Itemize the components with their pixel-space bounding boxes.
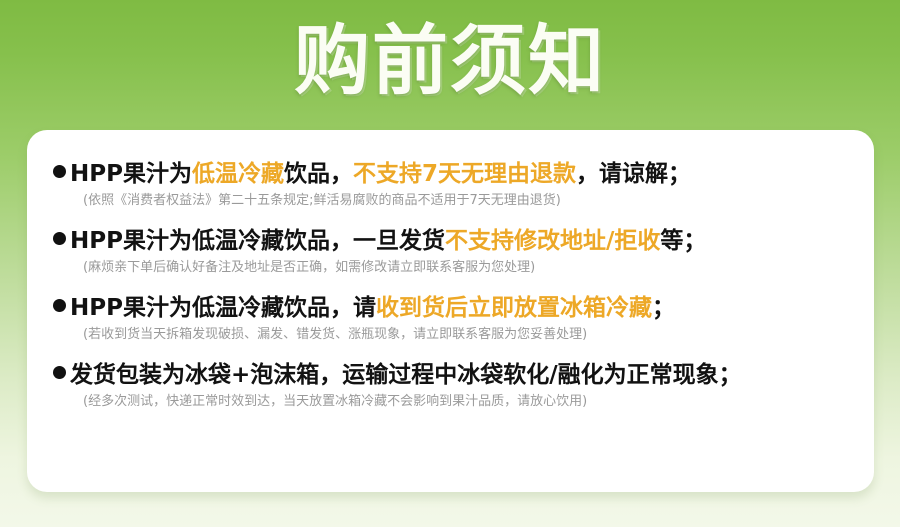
notice-main-text: HPP果汁为低温冷藏饮品，不支持7天无理由退款，请谅解； xyxy=(70,158,691,190)
notice-plain-text: HPP果汁为 xyxy=(70,161,192,187)
page-title-container: 购前须知 xyxy=(0,18,900,104)
notice-item: HPP果汁为低温冷藏饮品，不支持7天无理由退款，请谅解；(依照《消费者权益法》第… xyxy=(53,158,848,212)
notice-main-line: HPP果汁为低温冷藏饮品，不支持7天无理由退款，请谅解； xyxy=(53,158,848,190)
notice-main-line: HPP果汁为低温冷藏饮品，请收到货后立即放置冰箱冷藏； xyxy=(53,292,848,324)
bullet-dot-icon xyxy=(53,299,66,312)
bullet-dot-icon xyxy=(53,165,66,178)
purchase-notice-page: 购前须知 HPP果汁为低温冷藏饮品，不支持7天无理由退款，请谅解；(依照《消费者… xyxy=(0,0,900,527)
notice-sub-note: (依照《消费者权益法》第二十五条规定;鲜活易腐败的商品不适用于7天无理由退货) xyxy=(53,190,848,212)
notice-sub-note: (麻烦亲下单后确认好备注及地址是否正确，如需修改请立即联系客服为您处理) xyxy=(53,257,848,279)
notice-main-text: HPP果汁为低温冷藏饮品，一旦发货不支持修改地址/拒收等； xyxy=(70,225,706,257)
notice-sub-note: (若收到货当天拆箱发现破损、漏发、错发货、涨瓶现象，请立即联系客服为您妥善处理) xyxy=(53,324,848,346)
notice-item: HPP果汁为低温冷藏饮品，请收到货后立即放置冰箱冷藏；(若收到货当天拆箱发现破损… xyxy=(53,292,848,346)
notice-main-line: HPP果汁为低温冷藏饮品，一旦发货不支持修改地址/拒收等； xyxy=(53,225,848,257)
bullet-dot-icon xyxy=(53,366,66,379)
notice-highlight-text: 收到货后立即放置冰箱冷藏 xyxy=(376,295,652,321)
notice-highlight-text: 不支持7天无理由退款 xyxy=(353,161,576,187)
notice-item: HPP果汁为低温冷藏饮品，一旦发货不支持修改地址/拒收等；(麻烦亲下单后确认好备… xyxy=(53,225,848,279)
notice-item: 发货包装为冰袋+泡沫箱，运输过程中冰袋软化/融化为正常现象；(经多次测试，快递正… xyxy=(53,359,848,413)
notice-plain-text: 饮品， xyxy=(284,161,353,187)
notice-card: HPP果汁为低温冷藏饮品，不支持7天无理由退款，请谅解；(依照《消费者权益法》第… xyxy=(27,130,874,492)
notice-sub-note: (经多次测试，快递正常时效到达，当天放置冰箱冷藏不会影响到果汁品质，请放心饮用) xyxy=(53,391,848,413)
bullet-dot-icon xyxy=(53,232,66,245)
notice-plain-text: 发货包装为冰袋+泡沫箱，运输过程中冰袋软化/融化为正常现象； xyxy=(70,362,742,388)
page-title: 购前须知 xyxy=(294,18,606,104)
notice-highlight-text: 低温冷藏 xyxy=(192,161,284,187)
notice-plain-text: ； xyxy=(652,295,675,321)
notice-plain-text: 等； xyxy=(660,228,706,254)
notice-main-text: HPP果汁为低温冷藏饮品，请收到货后立即放置冰箱冷藏； xyxy=(70,292,675,324)
notice-highlight-text: 不支持修改地址/拒收 xyxy=(445,228,660,254)
notice-list: HPP果汁为低温冷藏饮品，不支持7天无理由退款，请谅解；(依照《消费者权益法》第… xyxy=(53,158,848,413)
notice-main-line: 发货包装为冰袋+泡沫箱，运输过程中冰袋软化/融化为正常现象； xyxy=(53,359,848,391)
notice-plain-text: HPP果汁为低温冷藏饮品，一旦发货 xyxy=(70,228,445,254)
notice-plain-text: HPP果汁为低温冷藏饮品，请 xyxy=(70,295,376,321)
notice-plain-text: ，请谅解； xyxy=(576,161,691,187)
notice-main-text: 发货包装为冰袋+泡沫箱，运输过程中冰袋软化/融化为正常现象； xyxy=(70,359,742,391)
